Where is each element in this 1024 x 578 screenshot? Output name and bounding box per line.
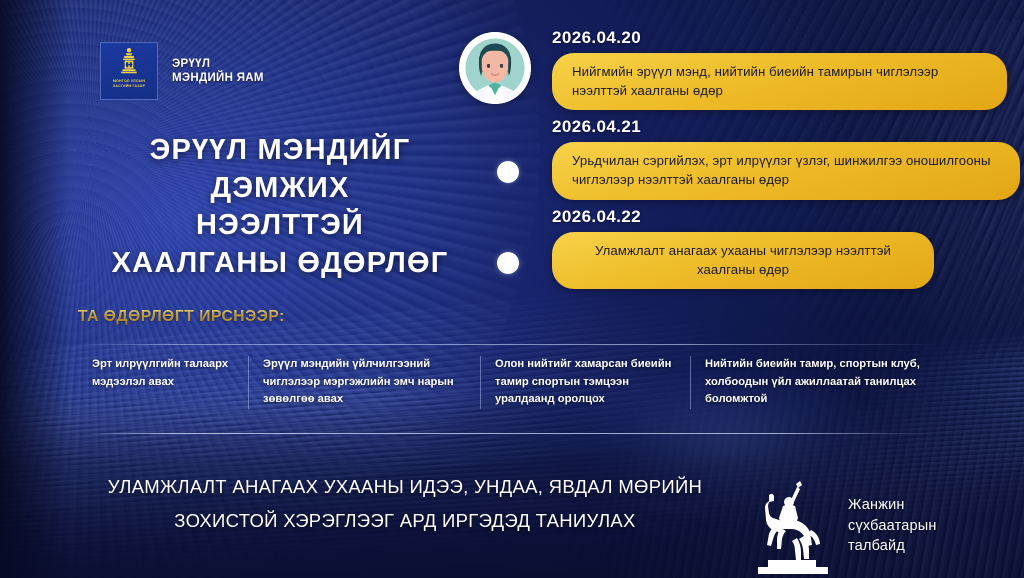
schedule-date: 2026.04.21	[552, 117, 1024, 137]
poster-canvas: МОНГОЛ УЛСЫН ЗАСГИЙН ГАЗАР ЭРҮҮЛ МЭНДИЙН…	[0, 0, 1024, 578]
schedule-description: Уламжлалт анагаах ухааны чиглэлээр нээлт…	[552, 232, 934, 289]
mongolia-government-emblem: МОНГОЛ УЛСЫН ЗАСГИЙН ГАЗАР	[100, 42, 158, 100]
schedule-item: 2026.04.21 Урьдчилан сэргийлэх, эрт илрү…	[552, 117, 1024, 199]
benefit-item: Эрт илрүүлгийн талаарх мэдээлэл авах	[78, 356, 248, 409]
benefit-item: Эрүүл мэндийн үйлчилгээний чиглэлээр мэр…	[248, 356, 480, 409]
benefit-item: Олон нийтийг хамарсан биеийн тамир спорт…	[480, 356, 690, 409]
schedule-item: 2026.04.20 Нийгмийн эрүүл мэнд, нийтийн …	[552, 28, 1024, 110]
ministry-name: ЭРҮҮЛ МЭНДИЙН ЯАМ	[172, 57, 264, 86]
female-doctor-icon	[459, 32, 531, 104]
schedule-bullet-icon	[497, 161, 519, 183]
schedule-description: Нийгмийн эрүүл мэнд, нийтийн биеийн тами…	[552, 53, 1007, 110]
page-title-line3: НЭЭЛТТЭЙ	[60, 207, 500, 245]
schedule-bullet-icon	[497, 252, 519, 274]
venue-name: Жанжин сүхбаатарын талбайд	[848, 495, 937, 557]
venue-block: Жанжин сүхбаатарын талбайд	[750, 478, 937, 574]
schedule-item: 2026.04.22 Уламжлалт анагаах ухааны чигл…	[552, 207, 1024, 289]
page-title-line2: ДЭМЖИХ	[60, 170, 500, 208]
header: МОНГОЛ УЛСЫН ЗАСГИЙН ГАЗАР ЭРҮҮЛ МЭНДИЙН…	[100, 42, 264, 100]
page-title-line1: ЭРҮҮЛ МЭНДИЙГ	[60, 132, 500, 170]
soyombo-emblem-icon	[114, 47, 144, 77]
venue-name-line3: талбайд	[848, 536, 937, 557]
page-title: ЭРҮҮЛ МЭНДИЙГ ДЭМЖИХ НЭЭЛТТЭЙ ХААЛГАНЫ Ө…	[60, 132, 500, 283]
footer-message: УЛАМЖЛАЛТ АНАГААХ УХААНЫ ИДЭЭ, УНДАА, ЯВ…	[55, 470, 755, 538]
schedule-date: 2026.04.20	[552, 28, 1024, 48]
emblem-caption: МОНГОЛ УЛСЫН ЗАСГИЙН ГАЗАР	[113, 79, 145, 89]
schedule-description: Урьдчилан сэргийлэх, эрт илрүүлэг үзлэг,…	[552, 142, 1020, 199]
sukhbaatar-statue-icon	[750, 478, 836, 574]
footer-message-line2: ЗОХИСТОЙ ХЭРЭГЛЭЭГ АРД ИРГЭДЭД ТАНИУЛАХ	[55, 504, 755, 538]
schedule-list: 2026.04.20 Нийгмийн эрүүл мэнд, нийтийн …	[552, 28, 1024, 296]
emblem-caption-line2: ЗАСГИЙН ГАЗАР	[113, 84, 145, 89]
benefit-item: Нийтийн биеийн тамир, спортын клуб, холб…	[690, 356, 948, 409]
footer-divider	[82, 433, 936, 434]
schedule-date: 2026.04.22	[552, 207, 1024, 227]
benefits-heading: ТА ӨДӨРЛӨГТ ИРСНЭЭР:	[78, 308, 285, 326]
page-title-line4: ХААЛГАНЫ ӨДӨРЛӨГ	[60, 245, 500, 283]
ministry-name-line2: МЭНДИЙН ЯАМ	[172, 71, 264, 85]
equestrian-statue-silhouette-icon	[750, 478, 836, 574]
benefits-divider-top	[78, 344, 938, 345]
venue-name-line2: сүхбаатарын	[848, 516, 937, 537]
benefits-row: Эрт илрүүлгийн талаарх мэдээлэл авах Эрү…	[78, 356, 948, 409]
footer-message-line1: УЛАМЖЛАЛТ АНАГААХ УХААНЫ ИДЭЭ, УНДАА, ЯВ…	[55, 470, 755, 504]
ministry-name-line1: ЭРҮҮЛ	[172, 57, 264, 71]
venue-name-line1: Жанжин	[848, 495, 937, 516]
doctor-avatar	[459, 32, 531, 104]
